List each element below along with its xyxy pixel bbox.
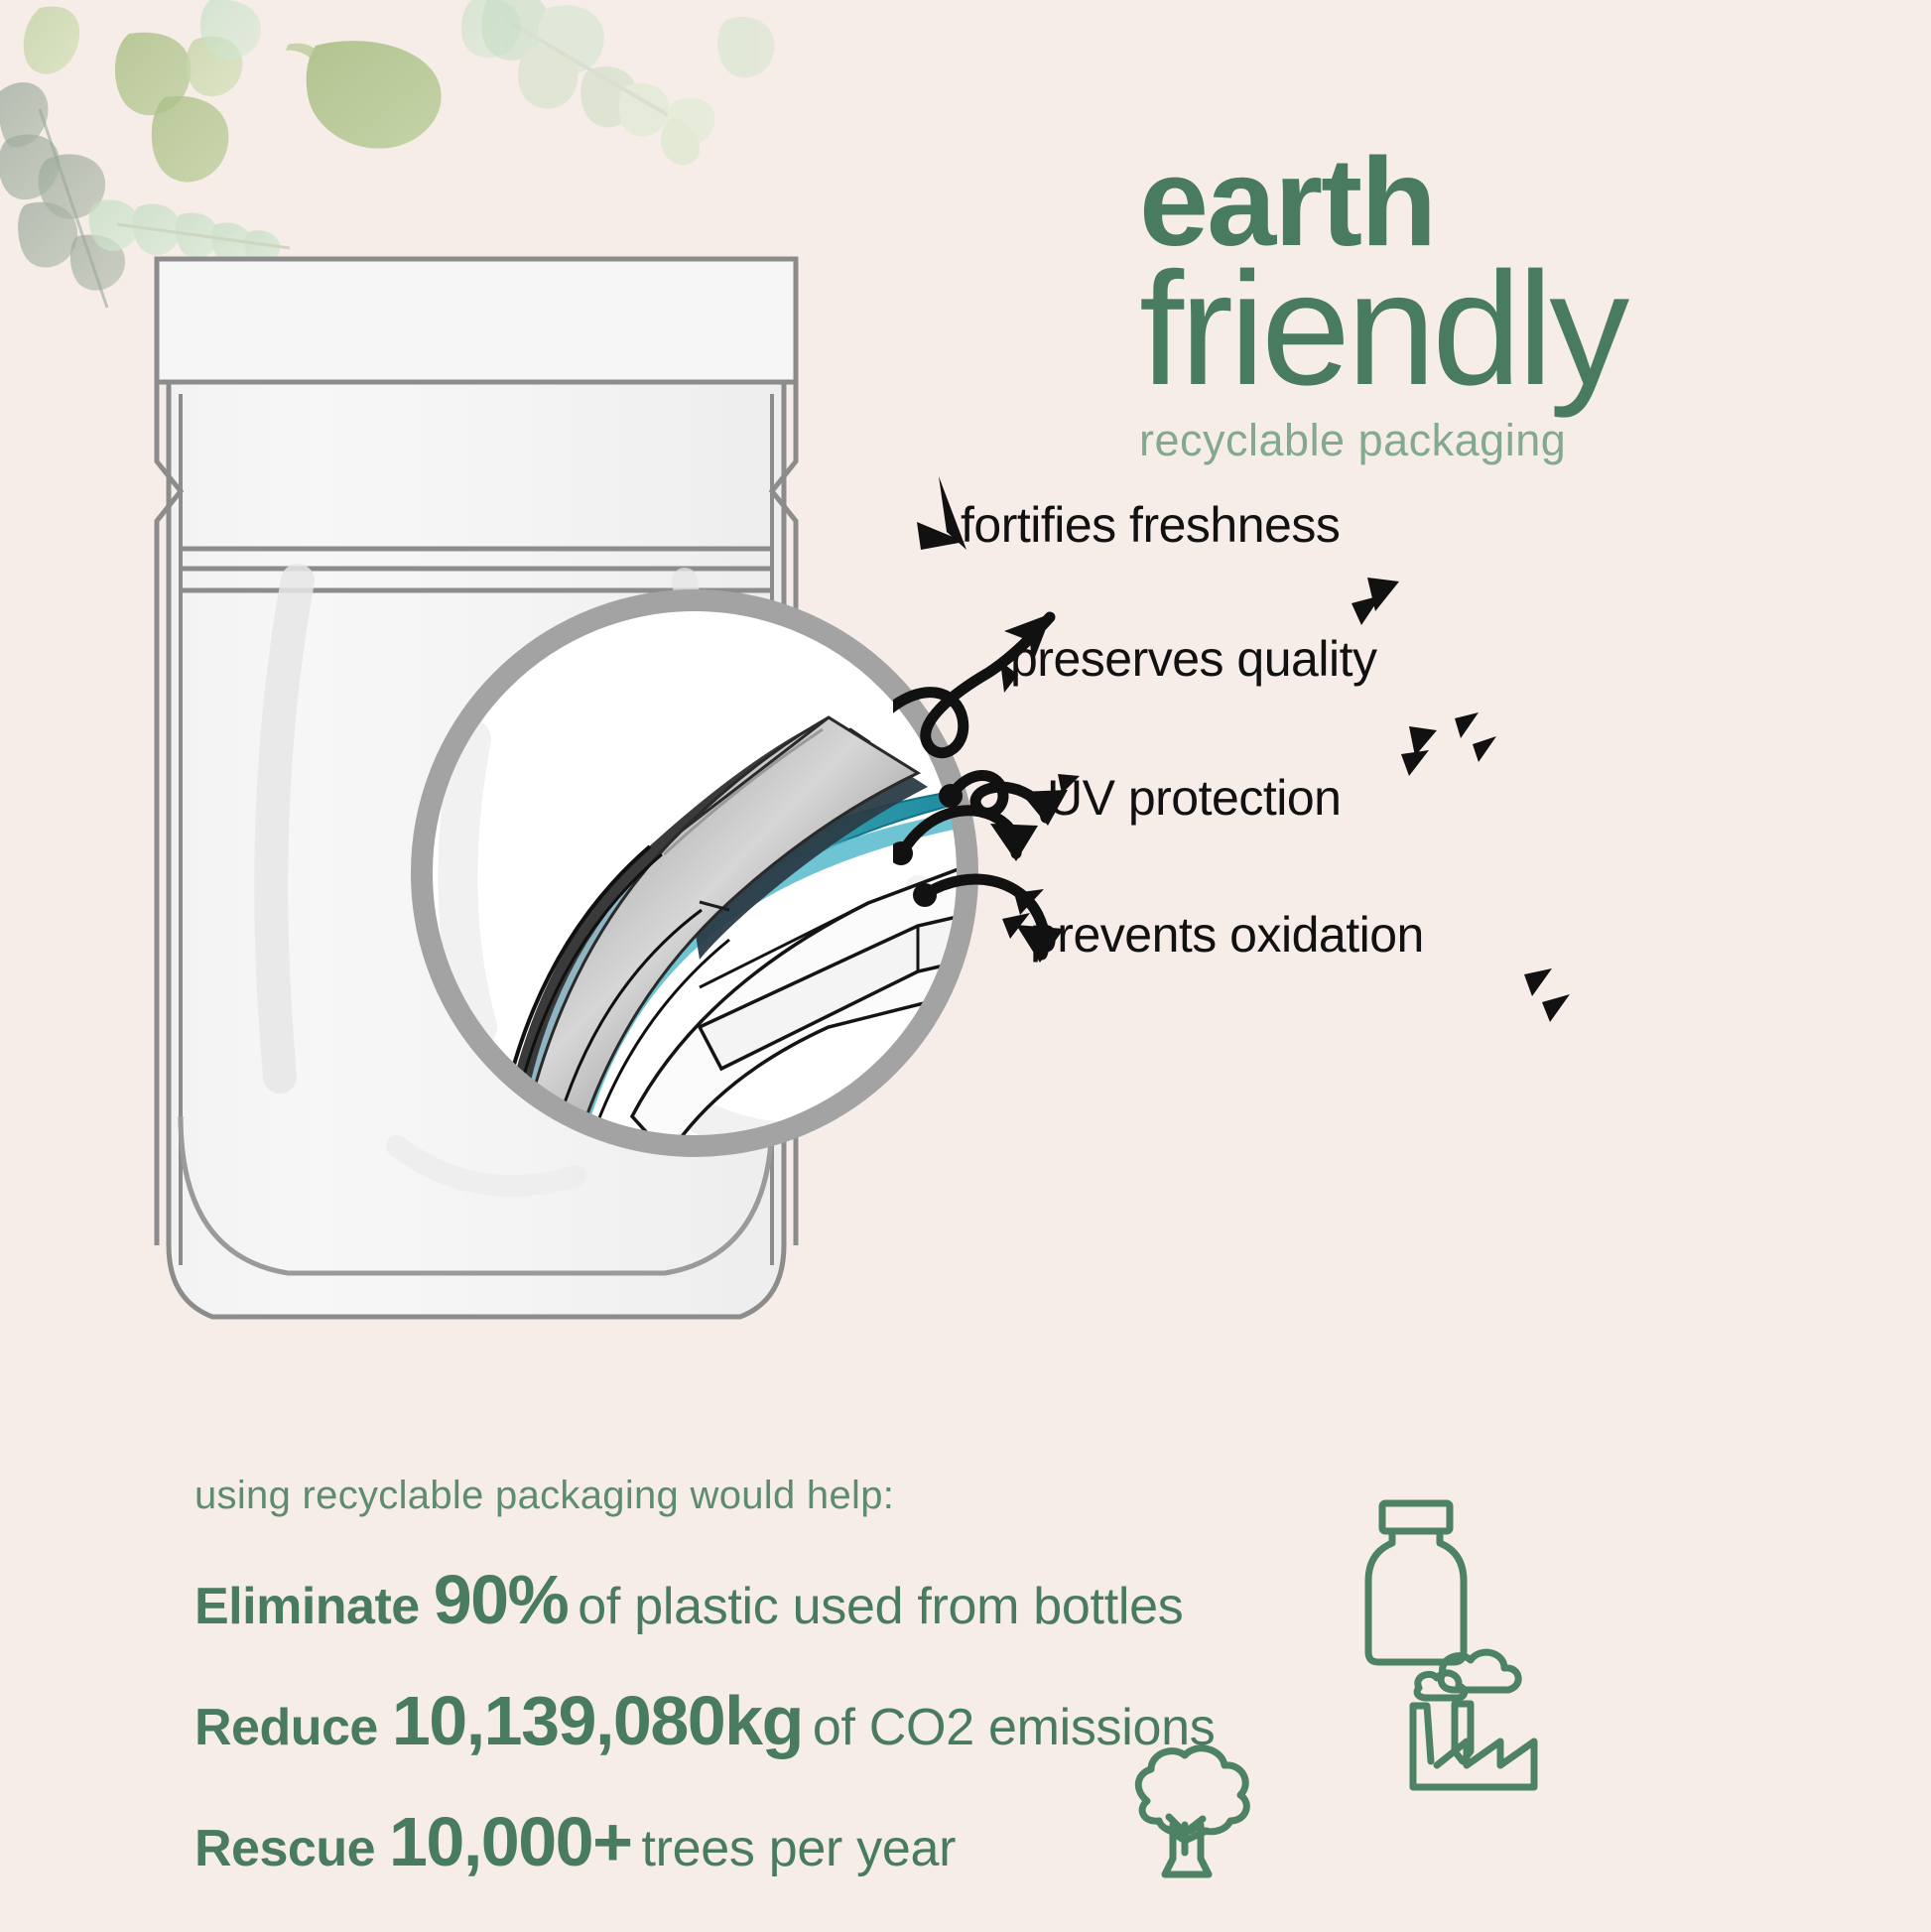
leaf-sprig-icon xyxy=(377,0,794,189)
callout-label-uv-protection: UV protection xyxy=(1047,769,1341,827)
stat-value: 90% xyxy=(434,1560,569,1639)
stats-intro: using recyclable packaging would help: xyxy=(194,1474,1385,1518)
stat-verb: Reduce xyxy=(194,1698,378,1757)
stat-verb: Rescue xyxy=(194,1819,375,1878)
infographic-canvas: earth friendly recyclable packaging xyxy=(0,0,1931,1932)
callout-label-fortifies-freshness: fortifies freshness xyxy=(961,496,1340,554)
tree-icon xyxy=(1090,1741,1278,1890)
stat-value: 10,000+ xyxy=(389,1802,631,1881)
stat-value: 10,139,080kg xyxy=(392,1681,803,1760)
callout-labels: fortifies freshness preserves quality UV… xyxy=(893,466,1931,1032)
stat-tail: trees per year xyxy=(641,1819,956,1878)
headline-block: earth friendly recyclable packaging xyxy=(1139,145,1893,466)
callout-label-preserves-quality: preserves quality xyxy=(1010,630,1376,688)
stat-verb: Eliminate xyxy=(194,1577,420,1636)
stat-row: Eliminate 90% of plastic used from bottl… xyxy=(194,1560,1385,1639)
stat-tail: of plastic used from bottles xyxy=(578,1577,1183,1636)
callout-label-prevents-oxidation: prevents oxidation xyxy=(1030,906,1424,964)
factory-icon xyxy=(1389,1632,1548,1791)
headline-subtitle: recyclable packaging xyxy=(1139,415,1893,466)
headline-line-friendly: friendly xyxy=(1139,254,1893,405)
